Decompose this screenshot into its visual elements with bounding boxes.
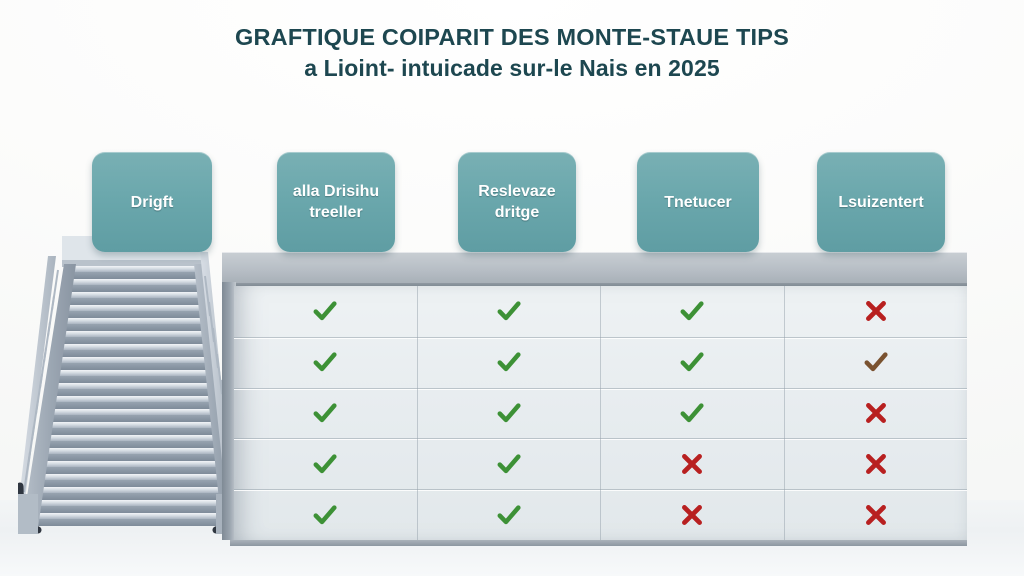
check-icon bbox=[496, 298, 522, 324]
cross-icon bbox=[863, 400, 889, 426]
table-cell[interactable] bbox=[234, 388, 418, 439]
table-cell[interactable] bbox=[785, 489, 968, 540]
table-cell[interactable] bbox=[234, 438, 418, 489]
check-icon bbox=[312, 298, 338, 324]
check-icon bbox=[496, 349, 522, 375]
table-cell[interactable] bbox=[234, 489, 418, 540]
table-cell[interactable] bbox=[785, 337, 968, 388]
column-header-label-1: alla Drisihu treeller bbox=[277, 181, 395, 223]
table-header-ledge bbox=[222, 252, 967, 285]
column-header-badges: Drigft alla Drisihu treeller Reslevaze d… bbox=[0, 152, 1024, 256]
stair-newel-left bbox=[18, 494, 38, 534]
column-header-label-3: Tnetucer bbox=[656, 192, 740, 213]
cross-icon bbox=[863, 298, 889, 324]
table-cell[interactable] bbox=[418, 337, 602, 388]
table-cell[interactable] bbox=[234, 337, 418, 388]
table-cell[interactable] bbox=[601, 438, 785, 489]
table-cell[interactable] bbox=[234, 286, 418, 337]
table-cell[interactable] bbox=[418, 438, 602, 489]
comparison-table bbox=[222, 252, 967, 542]
table-row bbox=[234, 337, 967, 389]
table-cell[interactable] bbox=[601, 489, 785, 540]
table-cell[interactable] bbox=[418, 286, 602, 337]
check-icon bbox=[496, 502, 522, 528]
table-base-plinth bbox=[230, 540, 967, 546]
column-header-badge-2[interactable]: Reslevaze dritge bbox=[458, 152, 576, 252]
column-header-label-4: Lsuizentert bbox=[830, 192, 931, 213]
table-cell[interactable] bbox=[601, 337, 785, 388]
table-cell[interactable] bbox=[418, 489, 602, 540]
comparison-chart-image: GRAFTIQUE COIPARIT DES MONTE-STAUE TIPS … bbox=[0, 0, 1024, 576]
table-cell[interactable] bbox=[418, 388, 602, 439]
table-cell[interactable] bbox=[785, 438, 968, 489]
check-icon bbox=[312, 451, 338, 477]
check-icon bbox=[679, 349, 705, 375]
check-icon bbox=[863, 349, 889, 375]
check-icon bbox=[496, 400, 522, 426]
column-header-badge-0[interactable]: Drigft bbox=[92, 152, 212, 252]
check-icon bbox=[312, 400, 338, 426]
table-cell[interactable] bbox=[785, 286, 968, 337]
cross-icon bbox=[679, 451, 705, 477]
staircase-svg bbox=[18, 236, 240, 540]
column-header-badge-3[interactable]: Tnetucer bbox=[637, 152, 759, 252]
cross-icon bbox=[863, 451, 889, 477]
table-cell[interactable] bbox=[601, 286, 785, 337]
table-row bbox=[234, 286, 967, 338]
stair-landing-edge bbox=[62, 260, 202, 267]
column-header-label-0: Drigft bbox=[123, 192, 182, 213]
table-cell[interactable] bbox=[785, 388, 968, 439]
table-row bbox=[234, 438, 967, 490]
column-header-label-2: Reslevaze dritge bbox=[458, 181, 576, 223]
table-cell[interactable] bbox=[601, 388, 785, 439]
check-icon bbox=[312, 502, 338, 528]
cross-icon bbox=[679, 502, 705, 528]
check-icon bbox=[496, 451, 522, 477]
table-row bbox=[234, 388, 967, 440]
cross-icon bbox=[863, 502, 889, 528]
table-body bbox=[234, 286, 967, 540]
check-icon bbox=[679, 298, 705, 324]
column-header-badge-1[interactable]: alla Drisihu treeller bbox=[277, 152, 395, 252]
staircase-illustration bbox=[18, 236, 240, 540]
check-icon bbox=[679, 400, 705, 426]
table-row bbox=[234, 489, 967, 540]
column-header-badge-4[interactable]: Lsuizentert bbox=[817, 152, 945, 252]
check-icon bbox=[312, 349, 338, 375]
